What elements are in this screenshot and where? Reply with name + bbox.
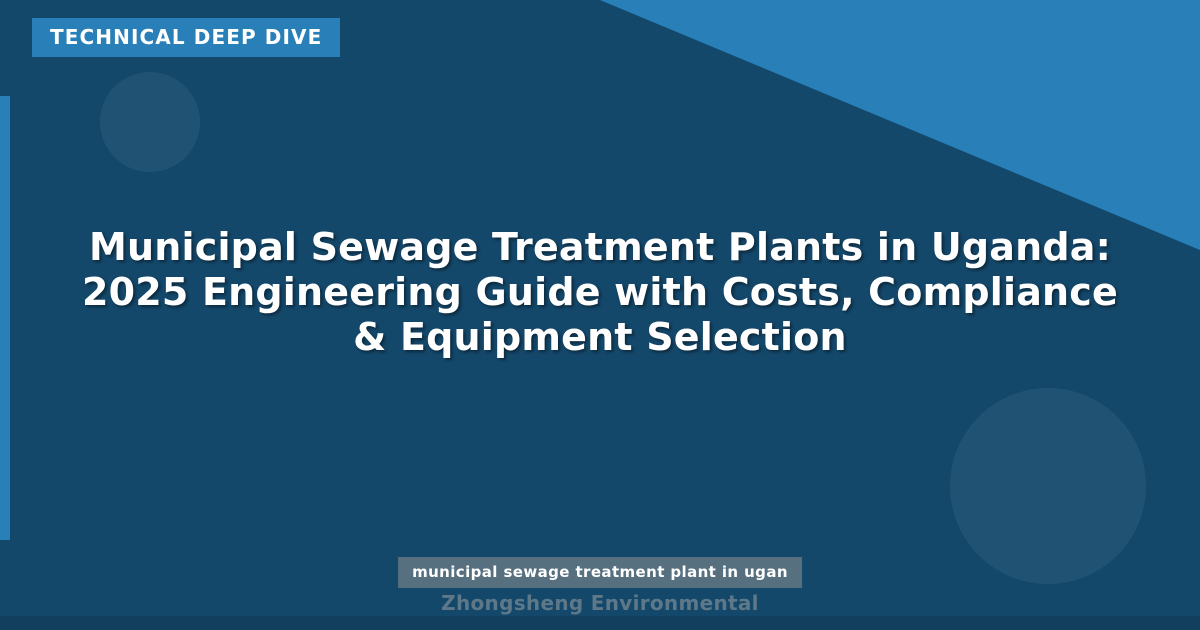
keyword-badge: municipal sewage treatment plant in ugan xyxy=(398,557,802,588)
bottom-strip xyxy=(0,616,1200,630)
decorative-circle-top xyxy=(100,72,200,172)
decorative-circle-bottom xyxy=(950,388,1146,584)
brand-name: Zhongsheng Environmental xyxy=(441,591,759,615)
eyebrow-label: TECHNICAL DEEP DIVE xyxy=(32,18,340,57)
social-card-banner: TECHNICAL DEEP DIVE Municipal Sewage Tre… xyxy=(0,0,1200,630)
title-container: Municipal Sewage Treatment Plants in Uga… xyxy=(60,225,1140,360)
left-accent-bar xyxy=(0,96,10,540)
page-title: Municipal Sewage Treatment Plants in Uga… xyxy=(60,225,1140,360)
